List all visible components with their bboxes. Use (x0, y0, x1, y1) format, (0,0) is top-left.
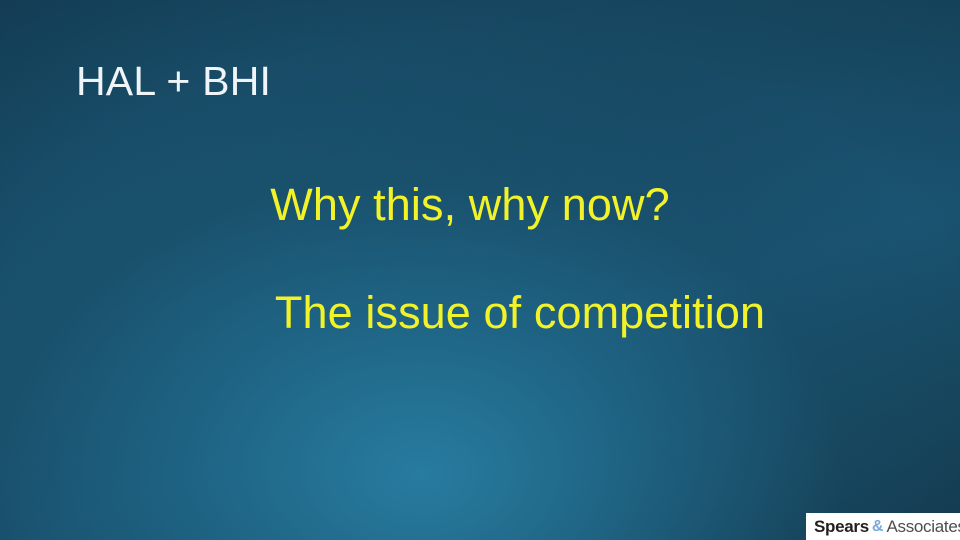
body-line-1: Why this, why now? (90, 182, 850, 228)
body-line-2: The issue of competition (190, 290, 850, 336)
logo-primary-text: Spears (814, 517, 869, 537)
slide-body: Why this, why now? The issue of competit… (150, 182, 850, 336)
logo-ampersand: & (872, 518, 884, 536)
logo-secondary-text: Associates (886, 517, 960, 537)
company-logo: Spears & Associates (806, 513, 960, 540)
presentation-slide: HAL + BHI Why this, why now? The issue o… (0, 0, 960, 540)
slide-title: HAL + BHI (76, 58, 271, 105)
